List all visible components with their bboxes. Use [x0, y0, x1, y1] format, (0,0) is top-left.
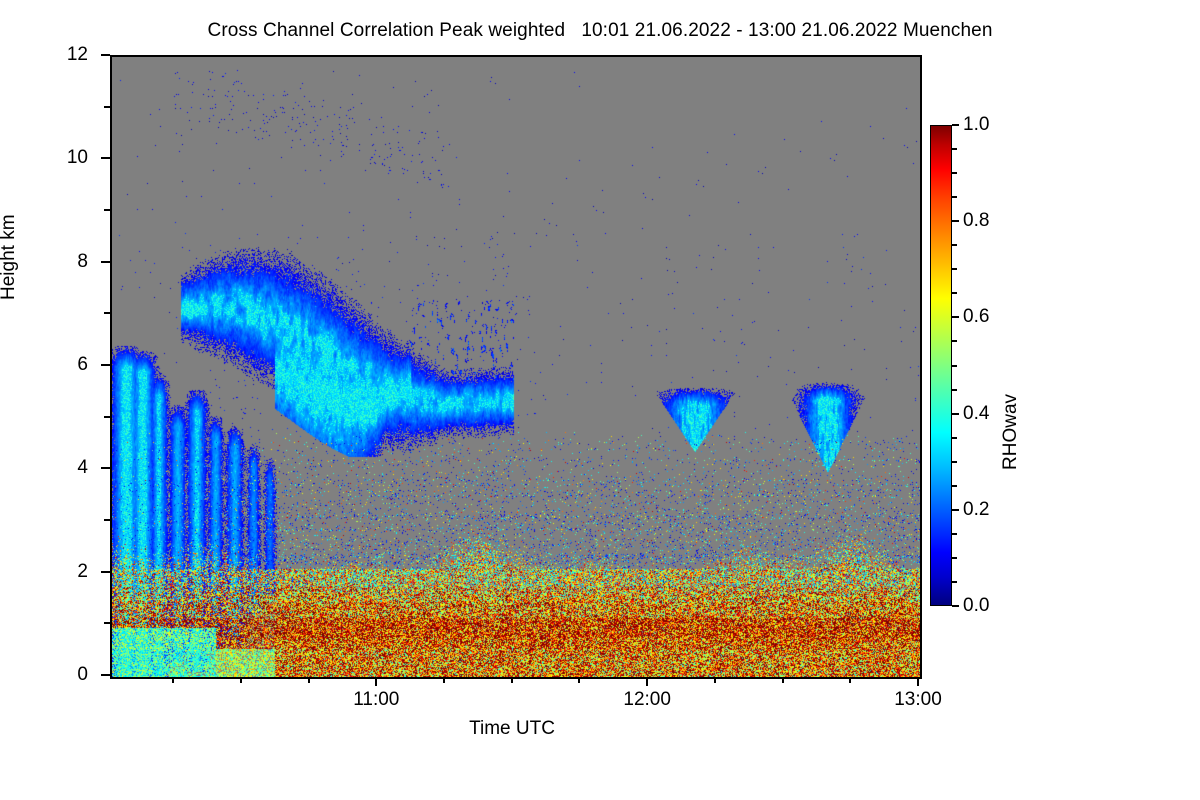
y-tick-label-12: 12 [42, 45, 88, 64]
plot-area [110, 55, 922, 679]
colorbar-tick-0.60 [952, 316, 959, 318]
y-tick-0 [101, 674, 110, 676]
x-axis-label: Time UTC [0, 718, 1024, 740]
x-tick-75 [443, 677, 445, 683]
x-tick-165 [849, 677, 851, 683]
y-tick-2 [101, 571, 110, 573]
colorbar-tick-0.35 [952, 437, 957, 439]
y-tick-label-10: 10 [42, 148, 88, 167]
x-tick-45 [308, 677, 310, 683]
y-tick-11 [104, 106, 110, 108]
y-tick-label-8: 8 [42, 252, 88, 271]
colorbar-tick-1.00 [952, 124, 959, 126]
colorbar-tick-0.20 [952, 509, 959, 511]
colorbar-tick-0.55 [952, 340, 957, 342]
y-tick-label-2: 2 [42, 562, 88, 581]
page-title: Cross Channel Correlation Peak weighted … [0, 20, 1200, 42]
x-tick-180 [917, 677, 919, 686]
colorbar-tick-label-1.0: 1.0 [963, 115, 989, 134]
colorbar-tick-label-0.0: 0.0 [963, 596, 989, 615]
colorbar-tick-0.50 [952, 365, 957, 367]
colorbar-tick-0.80 [952, 220, 959, 222]
colorbar-tick-0.65 [952, 292, 957, 294]
y-tick-3 [104, 519, 110, 521]
y-tick-7 [104, 312, 110, 314]
y-tick-1 [104, 622, 110, 624]
colorbar-tick-0.25 [952, 485, 957, 487]
heatmap-canvas [112, 57, 920, 677]
y-tick-6 [101, 364, 110, 366]
colorbar-tick-0.15 [952, 533, 957, 535]
colorbar-tick-0.05 [952, 581, 957, 583]
colorbar-tick-0.30 [952, 461, 957, 463]
y-tick-label-0: 0 [42, 665, 88, 684]
x-tick-90 [511, 677, 513, 683]
y-tick-4 [101, 467, 110, 469]
y-axis-label: Height km [0, 214, 20, 300]
x-tick-15 [172, 677, 174, 683]
colorbar-tick-0.10 [952, 557, 957, 559]
colorbar [930, 125, 952, 606]
x-tick-120 [646, 677, 648, 686]
y-tick-8 [101, 261, 110, 263]
y-tick-10 [101, 157, 110, 159]
x-tick-30 [240, 677, 242, 683]
x-tick-150 [782, 677, 784, 683]
x-tick-135 [714, 677, 716, 683]
colorbar-tick-0.75 [952, 244, 957, 246]
y-tick-12 [101, 54, 110, 56]
colorbar-tick-0.40 [952, 413, 959, 415]
y-tick-9 [104, 209, 110, 211]
colorbar-tick-label-0.4: 0.4 [963, 404, 989, 423]
x-tick-label-1200: 12:00 [602, 690, 692, 709]
colorbar-tick-0.45 [952, 389, 957, 391]
x-tick-label-1100: 11:00 [331, 690, 421, 709]
y-tick-label-6: 6 [42, 355, 88, 374]
radar-time-height-figure: Cross Channel Correlation Peak weighted … [0, 0, 1200, 800]
colorbar-label: RHOwav [1000, 394, 1022, 470]
colorbar-tick-label-0.8: 0.8 [963, 211, 989, 230]
y-tick-5 [104, 416, 110, 418]
colorbar-gradient [930, 125, 952, 606]
x-tick-label-1300: 13:00 [873, 690, 963, 709]
colorbar-tick-0.70 [952, 268, 957, 270]
colorbar-tick-0.95 [952, 148, 957, 150]
x-tick-60 [375, 677, 377, 686]
colorbar-tick-0.85 [952, 196, 957, 198]
x-tick-105 [578, 677, 580, 683]
colorbar-tick-label-0.6: 0.6 [963, 307, 989, 326]
colorbar-tick-0.90 [952, 172, 957, 174]
colorbar-tick-label-0.2: 0.2 [963, 500, 989, 519]
colorbar-tick-0.00 [952, 605, 959, 607]
y-tick-label-4: 4 [42, 458, 88, 477]
